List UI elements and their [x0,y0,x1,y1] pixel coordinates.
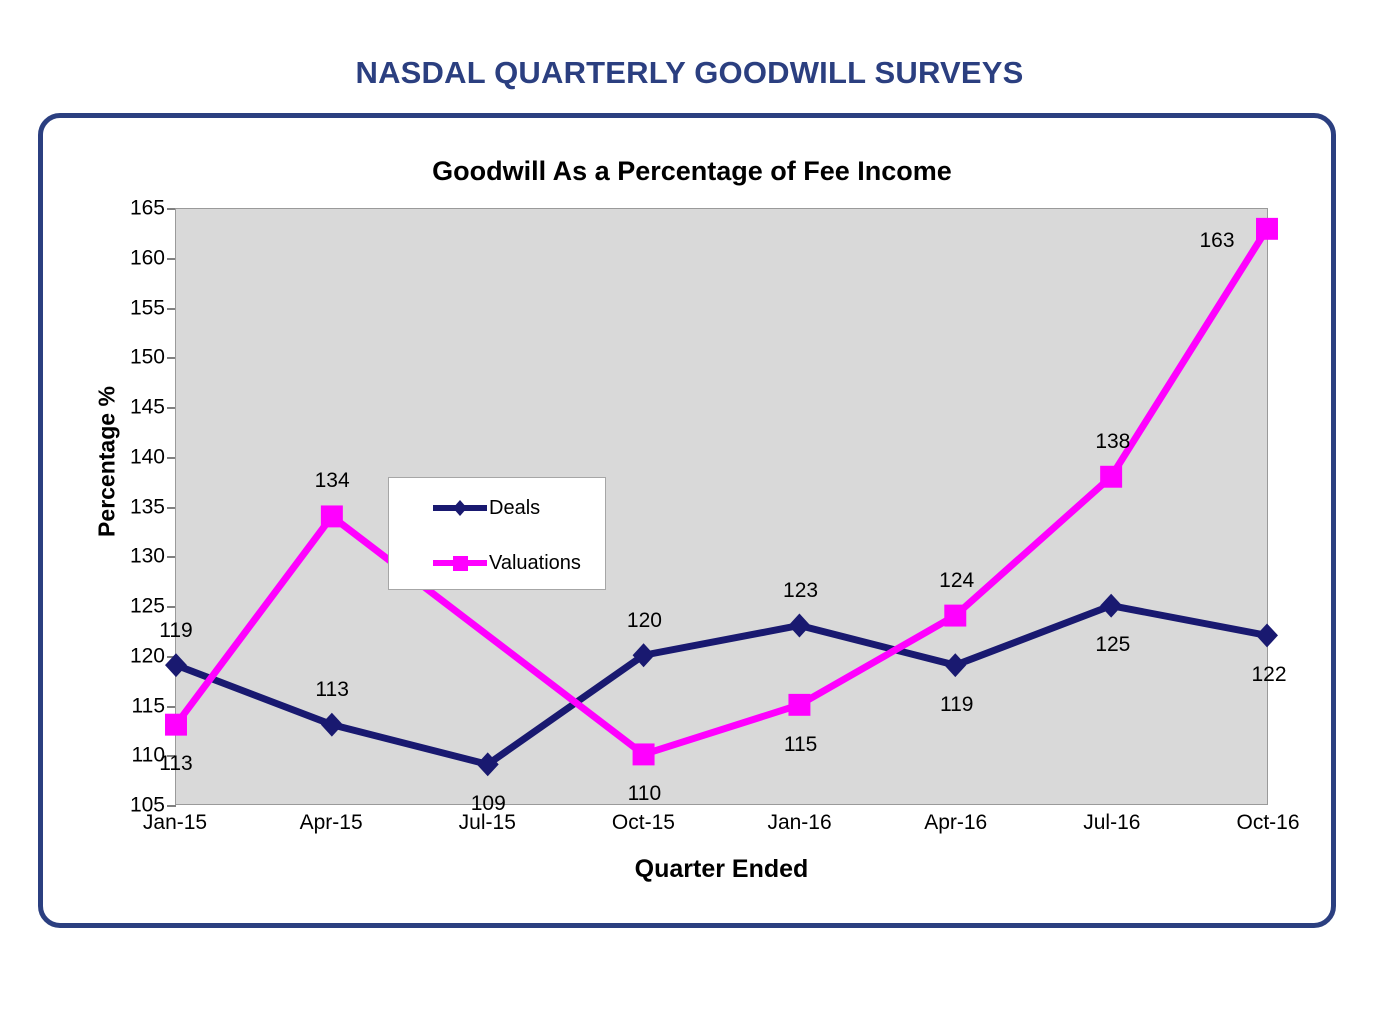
data-label: 113 [315,678,348,702]
x-tick-label: Apr-16 [924,811,987,835]
data-label: 125 [1095,633,1130,657]
y-axis-tick-labels: 105110115120125130135140145150155160165 [113,208,165,805]
data-label: 120 [627,609,662,633]
data-label: 115 [784,733,817,757]
y-tick-label: 145 [113,397,165,418]
data-point-marker [633,743,655,765]
y-tick-label: 155 [113,297,165,318]
legend-entry-deals: Deals [389,488,607,528]
legend-label-valuations: Valuations [489,552,581,575]
y-tick-label: 110 [113,745,165,766]
data-point-marker [1256,218,1278,240]
x-tick-label: Jul-15 [459,811,516,835]
data-label: 122 [1251,663,1286,687]
data-label: 119 [940,693,973,717]
y-tick-mark [167,805,176,807]
x-axis-tick-labels: Jan-15Apr-15Jul-15Oct-15Jan-16Apr-16Jul-… [175,811,1268,845]
data-label: 163 [1199,229,1234,253]
valuations-line-swatch [433,554,487,572]
chart-legend: Deals Valuations [388,477,606,590]
y-tick-label: 130 [113,546,165,567]
y-tick-label: 150 [113,347,165,368]
x-tick-label: Jan-15 [143,811,207,835]
legend-entry-valuations: Valuations [389,543,607,583]
data-point-marker [321,505,343,527]
x-tick-label: Jan-16 [767,811,831,835]
deals-line-swatch [433,499,487,517]
plot-area: 1191131091201231191251221131341101151241… [175,208,1268,805]
data-label: 119 [159,619,192,643]
data-label: 110 [628,782,661,806]
data-point-marker [944,653,966,677]
x-tick-label: Jul-16 [1083,811,1140,835]
page-title: NASDAL QUARTERLY GOODWILL SURVEYS [0,55,1379,91]
y-tick-label: 140 [113,446,165,467]
x-tick-label: Apr-15 [300,811,363,835]
data-point-marker [944,605,966,627]
y-tick-label: 160 [113,247,165,268]
legend-label-deals: Deals [489,497,540,520]
data-point-marker [1100,594,1122,618]
chart-frame: Goodwill As a Percentage of Fee Income P… [38,113,1336,928]
y-tick-label: 115 [113,695,165,716]
y-tick-label: 135 [113,496,165,517]
data-point-marker [1256,623,1278,647]
y-tick-label: 165 [113,198,165,219]
x-tick-label: Oct-15 [612,811,675,835]
y-tick-label: 125 [113,596,165,617]
y-tick-label: 120 [113,645,165,666]
data-label: 113 [159,752,192,776]
data-point-marker [788,614,810,638]
x-tick-label: Oct-16 [1236,811,1299,835]
chart-title: Goodwill As a Percentage of Fee Income [43,156,1341,187]
data-point-marker [1100,466,1122,488]
data-point-marker [165,714,187,736]
data-label: 134 [315,469,350,493]
data-label: 123 [783,579,818,603]
x-axis-title: Quarter Ended [175,855,1268,884]
data-label: 138 [1095,430,1130,454]
data-point-marker [788,694,810,716]
plot-lines [176,209,1267,804]
data-point-marker [321,713,343,737]
data-label: 124 [939,569,974,593]
